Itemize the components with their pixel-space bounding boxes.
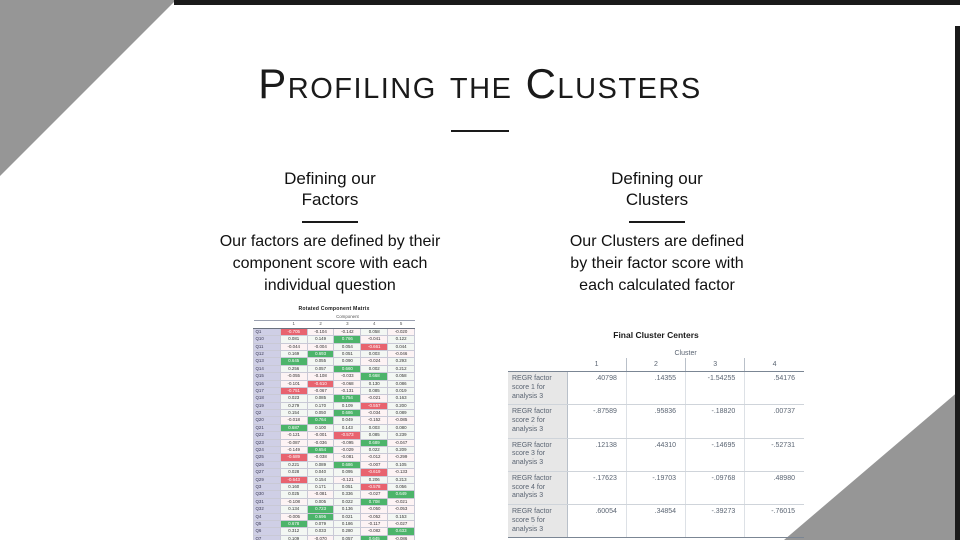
rcm-cell: 0.105 bbox=[388, 461, 415, 468]
rcm-row-label: Q17 bbox=[254, 387, 281, 394]
rcm-cell: -0.021 bbox=[361, 395, 388, 402]
fcc-rowlabel-header bbox=[508, 358, 567, 372]
table-row: Q270.0280.0400.095-0.619-0.133 bbox=[254, 469, 415, 476]
rcm-cell: -0.029 bbox=[334, 447, 361, 454]
table-row: Q1-0.705-0.104-0.1420.058-0.020 bbox=[254, 328, 415, 335]
rcm-cell: 0.022 bbox=[361, 447, 388, 454]
table-row: Q20-0.0180.7640.049-0.152-0.085 bbox=[254, 417, 415, 424]
rcm-cell: 0.209 bbox=[388, 447, 415, 454]
fcc-row-label: REGR factor score 3 for analysis 3 bbox=[508, 438, 567, 471]
column-factors-heading: Defining our Factors bbox=[180, 168, 480, 210]
rcm-cell: -0.041 bbox=[361, 336, 388, 343]
rcm-cell: -0.027 bbox=[388, 520, 415, 527]
column-factors-body: Our factors are defined by their compone… bbox=[180, 231, 480, 297]
rcm-cell: -0.610 bbox=[307, 380, 334, 387]
rcm-cell: -0.046 bbox=[388, 350, 415, 357]
rcm-cell: -0.095 bbox=[334, 439, 361, 446]
column-clusters-body-line1: Our Clusters are defined bbox=[512, 231, 802, 253]
decorative-bar-top bbox=[174, 0, 960, 5]
rcm-row-label: Q29 bbox=[254, 476, 281, 483]
rcm-column-header-5: 5 bbox=[388, 321, 415, 328]
table-row: Q210.6870.1000.1430.0030.080 bbox=[254, 424, 415, 431]
rcm-cell: 0.279 bbox=[280, 402, 307, 409]
title-underline-rule bbox=[451, 130, 509, 132]
fcc-cell: -.14695 bbox=[686, 438, 745, 471]
rcm-cell: -0.070 bbox=[307, 535, 334, 540]
rcm-cell: 0.213 bbox=[388, 476, 415, 483]
rcm-cell: 0.079 bbox=[307, 520, 334, 527]
rcm-cell: -0.004 bbox=[307, 343, 334, 350]
fcc-corner-blank bbox=[508, 347, 567, 358]
table-row: REGR factor score 4 for analysis 3-.1762… bbox=[508, 471, 804, 504]
fcc-cell: .95836 bbox=[626, 405, 685, 438]
rcm-cell: 0.085 bbox=[307, 395, 334, 402]
table-row: Q30.1600.1710.051-0.5780.056 bbox=[254, 483, 415, 490]
column-factors-body-line2: component score with each bbox=[180, 253, 480, 275]
rcm-cell: -0.643 bbox=[280, 476, 307, 483]
table-row: REGR factor score 3 for analysis 3.12138… bbox=[508, 438, 804, 471]
rcm-span-header: Component bbox=[280, 314, 414, 321]
rcm-cell: -0.121 bbox=[334, 476, 361, 483]
rcm-corner-blank bbox=[254, 314, 281, 321]
rcm-cell: 0.033 bbox=[307, 528, 334, 535]
column-clusters-body-line2: by their factor score with bbox=[512, 253, 802, 275]
rcm-cell: 0.239 bbox=[388, 432, 415, 439]
rcm-cell: -0.033 bbox=[334, 373, 361, 380]
fcc-cell: .12138 bbox=[567, 438, 626, 471]
rcm-cell: 0.109 bbox=[334, 402, 361, 409]
rcm-cell: -0.705 bbox=[280, 328, 307, 335]
rcm-cell: 0.293 bbox=[388, 358, 415, 365]
rcm-cell: -0.001 bbox=[307, 432, 334, 439]
fcc-cell: -.19703 bbox=[626, 471, 685, 504]
rcm-cell: 0.022 bbox=[334, 498, 361, 505]
rcm-cell: -0.038 bbox=[307, 454, 334, 461]
rcm-row-label: Q5 bbox=[254, 520, 281, 527]
rcm-cell: -0.117 bbox=[361, 520, 388, 527]
page-title: Profiling the Clusters bbox=[0, 60, 960, 108]
rcm-cell: 0.051 bbox=[334, 483, 361, 490]
column-clusters-rule bbox=[629, 221, 685, 223]
rcm-row-label: Q21 bbox=[254, 424, 281, 431]
rcm-cell: 0.080 bbox=[388, 424, 415, 431]
rcm-cell: 0.100 bbox=[307, 424, 334, 431]
rcm-cell: 0.754 bbox=[334, 395, 361, 402]
column-clusters-body: Our Clusters are defined by their factor… bbox=[512, 231, 802, 297]
final-cluster-centers-head: Cluster 1234 bbox=[508, 347, 804, 372]
rcm-cell: -0.081 bbox=[307, 491, 334, 498]
rcm-row-label: Q16 bbox=[254, 380, 281, 387]
rcm-cell: 0.122 bbox=[388, 336, 415, 343]
decorative-triangle-bottom-right bbox=[784, 390, 960, 540]
rcm-cell: -0.689 bbox=[280, 454, 307, 461]
rcm-cell: 0.090 bbox=[334, 358, 361, 365]
rcm-cell: 0.723 bbox=[307, 506, 334, 513]
rcm-cell: 0.689 bbox=[361, 439, 388, 446]
rcm-cell: 0.186 bbox=[334, 520, 361, 527]
rcm-cell: 0.095 bbox=[334, 469, 361, 476]
rcm-cell: -0.619 bbox=[361, 469, 388, 476]
rcm-cell: 0.130 bbox=[361, 380, 388, 387]
rcm-cell: 0.645 bbox=[280, 358, 307, 365]
fcc-cell: -.39273 bbox=[686, 505, 745, 538]
rcm-cell: -0.018 bbox=[280, 417, 307, 424]
rcm-cell: 0.003 bbox=[361, 424, 388, 431]
fcc-row-label: REGR factor score 1 for analysis 3 bbox=[508, 372, 567, 405]
rcm-cell: 0.256 bbox=[280, 365, 307, 372]
rcm-cell: -0.055 bbox=[280, 373, 307, 380]
table-row: Q29-0.6430.154-0.1210.2060.213 bbox=[254, 476, 415, 483]
fcc-cell: .00737 bbox=[745, 405, 804, 438]
slide-canvas: Profiling the Clusters Defining our Fact… bbox=[0, 0, 960, 540]
rcm-row-label: Q31 bbox=[254, 498, 281, 505]
rcm-cell: -0.047 bbox=[388, 439, 415, 446]
rcm-cell: -0.751 bbox=[280, 387, 307, 394]
rcm-row-label: Q26 bbox=[254, 461, 281, 468]
rotated-component-matrix-head: Component 12345 bbox=[254, 314, 415, 328]
rcm-cell: 0.085 bbox=[361, 432, 388, 439]
rcm-cell: -0.086 bbox=[388, 535, 415, 540]
rcm-cell: -0.036 bbox=[307, 439, 334, 446]
rcm-cell: 0.645 bbox=[361, 535, 388, 540]
rcm-row-label: Q22 bbox=[254, 432, 281, 439]
rcm-cell: 0.206 bbox=[361, 476, 388, 483]
rotated-component-matrix-table: Component 12345 Q1-0.705-0.104-0.1420.05… bbox=[253, 314, 415, 540]
rcm-cell: -0.021 bbox=[388, 498, 415, 505]
rcm-cell: 0.686 bbox=[334, 410, 361, 417]
rcm-cell: 0.708 bbox=[361, 498, 388, 505]
rcm-cell: 0.057 bbox=[307, 365, 334, 372]
rcm-cell: 0.154 bbox=[280, 410, 307, 417]
fcc-cell: -1.54255 bbox=[686, 372, 745, 405]
rcm-row-label: Q4 bbox=[254, 513, 281, 520]
rotated-component-matrix-title: Rotated Component Matrix bbox=[253, 306, 415, 312]
fcc-cell: .14355 bbox=[626, 372, 685, 405]
rcm-cell: -0.067 bbox=[307, 387, 334, 394]
rcm-cell: 0.056 bbox=[388, 483, 415, 490]
rcm-cell: -0.108 bbox=[307, 373, 334, 380]
table-row: Q16-0.101-0.610-0.0680.1300.086 bbox=[254, 380, 415, 387]
rcm-row-label: Q1 bbox=[254, 328, 281, 335]
fcc-cell: .48980 bbox=[745, 471, 804, 504]
rcm-cell: 0.136 bbox=[334, 506, 361, 513]
table-row: Q100.0810.1490.766-0.0410.122 bbox=[254, 336, 415, 343]
rcm-cell: 0.058 bbox=[361, 328, 388, 335]
fcc-cell: -.17623 bbox=[567, 471, 626, 504]
rcm-cell: 0.086 bbox=[388, 380, 415, 387]
rcm-cell: -0.068 bbox=[334, 380, 361, 387]
fcc-span-header: Cluster bbox=[567, 347, 804, 358]
rcm-cell: 0.003 bbox=[361, 350, 388, 357]
table-row: Q180.0230.0850.754-0.0210.163 bbox=[254, 395, 415, 402]
final-cluster-centers-table: Cluster 1234 REGR factor score 1 for ana… bbox=[508, 347, 804, 538]
rcm-cell: 0.050 bbox=[307, 410, 334, 417]
table-row: Q190.2790.1700.109-0.5570.200 bbox=[254, 402, 415, 409]
rcm-row-label: Q14 bbox=[254, 365, 281, 372]
rcm-cell: -0.005 bbox=[280, 513, 307, 520]
fcc-cell: -.09768 bbox=[686, 471, 745, 504]
rcm-cell: 0.633 bbox=[388, 528, 415, 535]
rcm-cell: -0.152 bbox=[361, 417, 388, 424]
final-cluster-centers-body: REGR factor score 1 for analysis 3.40798… bbox=[508, 372, 804, 538]
rcm-cell: 0.169 bbox=[280, 350, 307, 357]
rcm-cell: 0.696 bbox=[307, 513, 334, 520]
rcm-cell: 0.057 bbox=[334, 535, 361, 540]
table-row: Q140.2560.0570.6600.0020.212 bbox=[254, 365, 415, 372]
table-row: Q15-0.055-0.108-0.0330.6680.058 bbox=[254, 373, 415, 380]
rcm-cell: -0.034 bbox=[361, 410, 388, 417]
rcm-cell: -0.012 bbox=[361, 454, 388, 461]
rotated-component-matrix: Rotated Component Matrix Component 12345… bbox=[253, 306, 415, 540]
rcm-cell: 0.163 bbox=[388, 395, 415, 402]
rcm-cell: 0.040 bbox=[307, 469, 334, 476]
rcm-cell: -0.024 bbox=[361, 358, 388, 365]
rcm-row-label: Q19 bbox=[254, 402, 281, 409]
column-factors-heading-line2: Factors bbox=[180, 189, 480, 210]
rcm-cell: -0.104 bbox=[307, 328, 334, 335]
rcm-row-label: Q15 bbox=[254, 373, 281, 380]
rcm-row-label: Q27 bbox=[254, 469, 281, 476]
rcm-cell: 0.668 bbox=[361, 373, 388, 380]
rcm-cell: -0.020 bbox=[388, 328, 415, 335]
rcm-row-label: Q23 bbox=[254, 439, 281, 446]
rcm-cell: 0.058 bbox=[388, 373, 415, 380]
table-row: Q31-0.1080.0050.0220.708-0.021 bbox=[254, 498, 415, 505]
rotated-component-matrix-colnum-row: 12345 bbox=[254, 321, 415, 328]
table-row: REGR factor score 1 for analysis 3.40798… bbox=[508, 372, 804, 405]
fcc-cell: .60054 bbox=[567, 505, 626, 538]
fcc-row-label: REGR factor score 4 for analysis 3 bbox=[508, 471, 567, 504]
final-cluster-centers-title: Final Cluster Centers bbox=[508, 330, 804, 340]
rcm-cell: 0.764 bbox=[307, 417, 334, 424]
rcm-cell: -0.081 bbox=[334, 454, 361, 461]
fcc-cell: .40798 bbox=[567, 372, 626, 405]
table-row: Q320.1340.7230.136-0.050-0.053 bbox=[254, 506, 415, 513]
table-row: Q11-0.044-0.0040.054-0.6610.044 bbox=[254, 343, 415, 350]
column-factors-body-line1: Our factors are defined by their bbox=[180, 231, 480, 253]
rcm-cell: 0.687 bbox=[280, 424, 307, 431]
rcm-cell: 0.055 bbox=[307, 358, 334, 365]
rcm-cell: 0.171 bbox=[307, 483, 334, 490]
rcm-cell: 0.693 bbox=[307, 350, 334, 357]
rcm-cell: -0.578 bbox=[361, 483, 388, 490]
rcm-cell: -0.573 bbox=[334, 432, 361, 439]
table-row: Q24-0.1490.654-0.0290.0220.209 bbox=[254, 447, 415, 454]
table-row: Q130.6450.0550.090-0.0240.293 bbox=[254, 358, 415, 365]
rcm-cell: 0.081 bbox=[280, 336, 307, 343]
rcm-cell: 0.170 bbox=[307, 402, 334, 409]
rcm-column-header-3: 3 bbox=[334, 321, 361, 328]
rcm-cell: -0.557 bbox=[361, 402, 388, 409]
fcc-cell: -.52731 bbox=[745, 438, 804, 471]
table-row: Q17-0.751-0.067-0.1310.0850.019 bbox=[254, 387, 415, 394]
rcm-cell: 0.200 bbox=[388, 402, 415, 409]
column-clusters-heading: Defining our Clusters bbox=[512, 168, 802, 210]
fcc-colnum-row: 1234 bbox=[508, 358, 804, 372]
table-row: Q70.109-0.0700.0570.645-0.086 bbox=[254, 535, 415, 540]
rcm-row-label: Q7 bbox=[254, 535, 281, 540]
rcm-cell: -0.142 bbox=[334, 328, 361, 335]
column-factors-heading-line1: Defining our bbox=[180, 168, 480, 189]
rcm-cell: -0.149 bbox=[280, 447, 307, 454]
column-factors-body-line3: individual question bbox=[180, 275, 480, 297]
column-factors: Defining our Factors Our factors are def… bbox=[180, 168, 480, 297]
rcm-cell: 0.051 bbox=[334, 350, 361, 357]
final-cluster-centers: Final Cluster Centers Cluster 1234 REGR … bbox=[508, 330, 804, 538]
column-factors-rule bbox=[302, 221, 358, 223]
table-row: Q4-0.0050.6960.021-0.0520.153 bbox=[254, 513, 415, 520]
fcc-row-label: REGR factor score 2 for analysis 3 bbox=[508, 405, 567, 438]
rcm-row-label: Q24 bbox=[254, 447, 281, 454]
rcm-cell: 0.678 bbox=[280, 520, 307, 527]
rcm-cell: 0.280 bbox=[334, 528, 361, 535]
rcm-cell: -0.007 bbox=[361, 461, 388, 468]
rcm-row-label: Q13 bbox=[254, 358, 281, 365]
rcm-cell: 0.054 bbox=[334, 343, 361, 350]
table-row: Q20.1540.0500.686-0.0340.089 bbox=[254, 410, 415, 417]
rcm-cell: 0.160 bbox=[280, 483, 307, 490]
rcm-row-label: Q6 bbox=[254, 528, 281, 535]
rcm-cell: 0.153 bbox=[388, 513, 415, 520]
rcm-cell: 0.221 bbox=[280, 461, 307, 468]
rcm-cell: 0.649 bbox=[388, 491, 415, 498]
rcm-cell: -0.108 bbox=[280, 498, 307, 505]
rcm-cell: 0.686 bbox=[334, 461, 361, 468]
rcm-cell: 0.028 bbox=[280, 469, 307, 476]
rcm-cell: 0.019 bbox=[388, 387, 415, 394]
table-row: Q260.2210.0890.686-0.0070.105 bbox=[254, 461, 415, 468]
rcm-cell: -0.133 bbox=[388, 469, 415, 476]
rcm-cell: 0.023 bbox=[280, 395, 307, 402]
rcm-cell: -0.087 bbox=[280, 439, 307, 446]
table-row: Q300.025-0.0810.336-0.0270.649 bbox=[254, 491, 415, 498]
rcm-row-label: Q32 bbox=[254, 506, 281, 513]
rcm-row-label: Q3 bbox=[254, 483, 281, 490]
rcm-cell: 0.143 bbox=[334, 424, 361, 431]
rcm-cell: 0.312 bbox=[280, 528, 307, 535]
table-row: REGR factor score 2 for analysis 3-.8758… bbox=[508, 405, 804, 438]
rcm-cell: 0.085 bbox=[361, 387, 388, 394]
rcm-cell: 0.154 bbox=[307, 476, 334, 483]
rcm-cell: -0.044 bbox=[280, 343, 307, 350]
rcm-cell: -0.101 bbox=[280, 380, 307, 387]
fcc-cell: .54176 bbox=[745, 372, 804, 405]
rcm-cell: 0.089 bbox=[307, 461, 334, 468]
fcc-column-header-3: 3 bbox=[686, 358, 745, 372]
rcm-row-label: Q20 bbox=[254, 417, 281, 424]
rcm-row-label: Q18 bbox=[254, 395, 281, 402]
column-clusters-body-line3: each calculated factor bbox=[512, 275, 802, 297]
rcm-cell: -0.085 bbox=[388, 417, 415, 424]
rcm-row-label: Q2 bbox=[254, 410, 281, 417]
table-row: Q50.6780.0790.186-0.117-0.027 bbox=[254, 520, 415, 527]
table-row: REGR factor score 5 for analysis 3.60054… bbox=[508, 505, 804, 538]
rcm-cell: 0.049 bbox=[334, 417, 361, 424]
table-row: Q22-0.121-0.001-0.5730.0850.239 bbox=[254, 432, 415, 439]
rcm-cell: 0.109 bbox=[280, 535, 307, 540]
rcm-cell: 0.005 bbox=[307, 498, 334, 505]
rcm-column-header-4: 4 bbox=[361, 321, 388, 328]
rcm-cell: -0.050 bbox=[361, 506, 388, 513]
rcm-cell: 0.660 bbox=[334, 365, 361, 372]
rcm-cell: 0.336 bbox=[334, 491, 361, 498]
fcc-cell: -.18820 bbox=[686, 405, 745, 438]
fcc-span-row: Cluster bbox=[508, 347, 804, 358]
rcm-row-label: Q25 bbox=[254, 454, 281, 461]
rcm-cell: -0.082 bbox=[361, 528, 388, 535]
rcm-cell: -0.027 bbox=[361, 491, 388, 498]
fcc-cell: .44310 bbox=[626, 438, 685, 471]
rcm-cell: 0.212 bbox=[388, 365, 415, 372]
fcc-cell: -.87589 bbox=[567, 405, 626, 438]
rcm-cell: 0.021 bbox=[334, 513, 361, 520]
table-row: Q60.3120.0330.280-0.0820.633 bbox=[254, 528, 415, 535]
rotated-component-matrix-span-row: Component bbox=[254, 314, 415, 321]
column-clusters: Defining our Clusters Our Clusters are d… bbox=[512, 168, 802, 297]
rcm-cell: -0.299 bbox=[388, 454, 415, 461]
rcm-cell: -0.131 bbox=[334, 387, 361, 394]
rcm-row-label: Q30 bbox=[254, 491, 281, 498]
fcc-column-header-1: 1 bbox=[567, 358, 626, 372]
fcc-column-header-4: 4 bbox=[745, 358, 804, 372]
table-row: Q25-0.689-0.038-0.081-0.012-0.299 bbox=[254, 454, 415, 461]
rotated-component-matrix-body: Q1-0.705-0.104-0.1420.058-0.020Q100.0810… bbox=[254, 328, 415, 540]
fcc-cell: .34854 bbox=[626, 505, 685, 538]
rcm-cell: 0.044 bbox=[388, 343, 415, 350]
column-clusters-heading-line2: Clusters bbox=[512, 189, 802, 210]
rcm-row-label: Q10 bbox=[254, 336, 281, 343]
table-row: Q23-0.087-0.036-0.0950.689-0.047 bbox=[254, 439, 415, 446]
rcm-cell: 0.089 bbox=[388, 410, 415, 417]
rcm-column-header-2: 2 bbox=[307, 321, 334, 328]
fcc-column-header-2: 2 bbox=[626, 358, 685, 372]
rcm-cell: 0.654 bbox=[307, 447, 334, 454]
rcm-cell: 0.766 bbox=[334, 336, 361, 343]
rcm-cell: 0.149 bbox=[307, 336, 334, 343]
fcc-cell: -.76015 bbox=[745, 505, 804, 538]
table-row: Q120.1690.6930.0510.003-0.046 bbox=[254, 350, 415, 357]
rcm-cell: -0.661 bbox=[361, 343, 388, 350]
rcm-cell: 0.002 bbox=[361, 365, 388, 372]
column-clusters-heading-line1: Defining our bbox=[512, 168, 802, 189]
rcm-rowlabel-header bbox=[254, 321, 281, 328]
rcm-cell: 0.025 bbox=[280, 491, 307, 498]
rcm-cell: -0.052 bbox=[361, 513, 388, 520]
rcm-cell: 0.134 bbox=[280, 506, 307, 513]
fcc-row-label: REGR factor score 5 for analysis 3 bbox=[508, 505, 567, 538]
rcm-cell: -0.053 bbox=[388, 506, 415, 513]
rcm-column-header-1: 1 bbox=[280, 321, 307, 328]
rcm-row-label: Q11 bbox=[254, 343, 281, 350]
rcm-row-label: Q12 bbox=[254, 350, 281, 357]
rcm-cell: -0.121 bbox=[280, 432, 307, 439]
